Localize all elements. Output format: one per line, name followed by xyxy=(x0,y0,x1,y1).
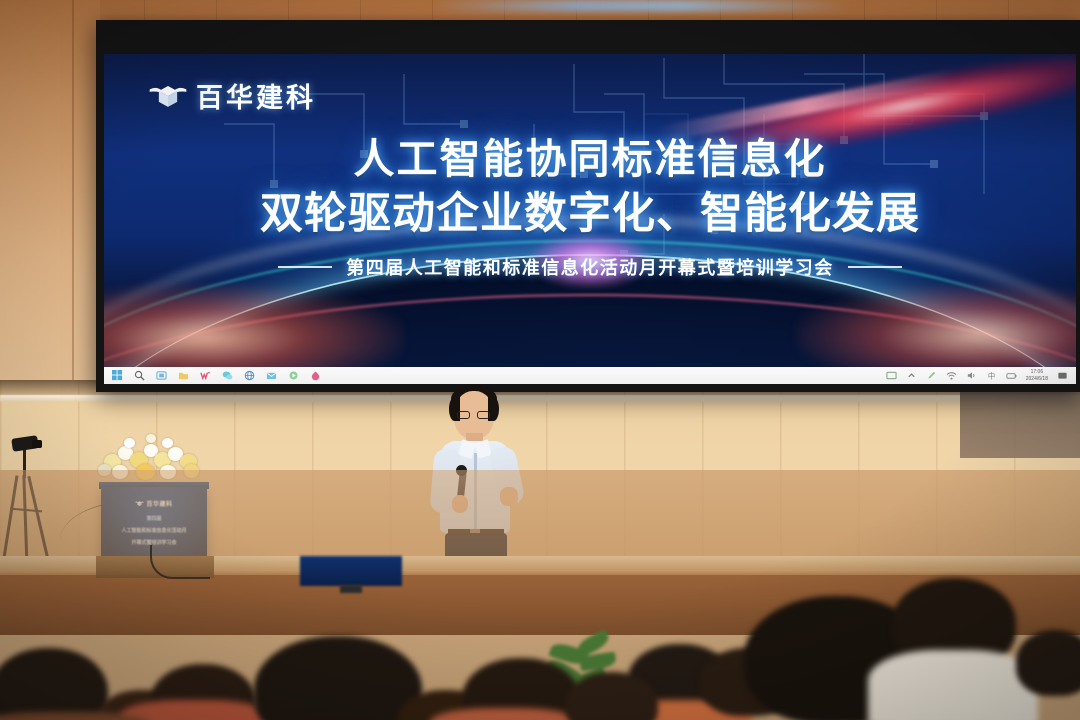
audience-head xyxy=(1016,630,1080,696)
wechat-icon[interactable] xyxy=(222,370,233,381)
windows-start-icon[interactable] xyxy=(112,370,123,381)
camera-lens-icon xyxy=(32,440,42,448)
mail-icon[interactable] xyxy=(266,370,277,381)
ceiling-light-glow xyxy=(430,0,850,12)
notification-icon[interactable] xyxy=(1057,370,1068,381)
screen-subtitle-row: 第四届人工智能和标准信息化活动月开幕式暨培训学习会 xyxy=(104,254,1076,280)
confidence-monitor-stand xyxy=(340,585,362,593)
audience-body xyxy=(120,700,270,720)
speaker-glasses xyxy=(457,411,491,420)
confidence-monitor xyxy=(300,556,402,586)
screen-title-line-1: 人工智能协同标准信息化 xyxy=(104,132,1076,186)
subtitle-dash-right xyxy=(848,266,902,268)
windows-taskbar[interactable]: 中 17:06 2024/6/18 xyxy=(104,367,1076,384)
conference-photo-scene: 百华建科 人工智能协同标准信息化 双轮驱动企业数字化、智能化发展 第四届人工智能… xyxy=(0,0,1080,720)
audience-body xyxy=(868,650,1038,720)
app-icon[interactable] xyxy=(310,370,321,381)
audience-head xyxy=(0,648,108,720)
audience-head xyxy=(254,636,422,720)
right-wall-dark-panel xyxy=(960,388,1080,458)
screen-brand-name: 百华建科 xyxy=(196,76,316,115)
podium-cable xyxy=(150,545,210,579)
subtitle-dash-left xyxy=(278,266,332,268)
svg-text:中: 中 xyxy=(988,371,995,380)
taskbar-system-tray[interactable]: 中 17:06 2024/6/18 xyxy=(886,369,1072,382)
city-lights-left xyxy=(104,284,404,374)
pen-icon[interactable] xyxy=(926,370,937,381)
browser-icon[interactable] xyxy=(244,370,255,381)
display-icon[interactable] xyxy=(886,370,897,381)
screen-title-block: 人工智能协同标准信息化 双轮驱动企业数字化、智能化发展 xyxy=(104,132,1076,243)
taskbar-clock-date: 2024/6/18 xyxy=(1026,376,1048,382)
led-screen: 百华建科 人工智能协同标准信息化 双轮驱动企业数字化、智能化发展 第四届人工智能… xyxy=(104,54,1076,384)
screen-brand-logo: 百华建科 xyxy=(148,76,316,115)
screen-subtitle: 第四届人工智能和标准信息化活动月开幕式暨培训学习会 xyxy=(346,254,834,280)
city-lights-right xyxy=(796,284,1076,370)
file-explorer-icon[interactable] xyxy=(178,370,189,381)
media-player-icon[interactable] xyxy=(288,370,299,381)
sound-icon[interactable] xyxy=(966,370,977,381)
battery-icon[interactable] xyxy=(1006,370,1017,381)
wps-office-icon[interactable] xyxy=(200,370,211,381)
network-icon[interactable] xyxy=(946,370,957,381)
input-method-icon[interactable]: 中 xyxy=(986,370,997,381)
search-icon[interactable] xyxy=(134,370,145,381)
taskbar-clock[interactable]: 17:06 2024/6/18 xyxy=(1026,369,1048,382)
taskbar-left-icons[interactable] xyxy=(108,370,321,381)
chevron-up-icon[interactable] xyxy=(906,370,917,381)
screen-title-line-2: 双轮驱动企业数字化、智能化发展 xyxy=(104,186,1076,243)
winged-cube-logo-icon xyxy=(148,81,188,111)
task-view-icon[interactable] xyxy=(156,370,167,381)
